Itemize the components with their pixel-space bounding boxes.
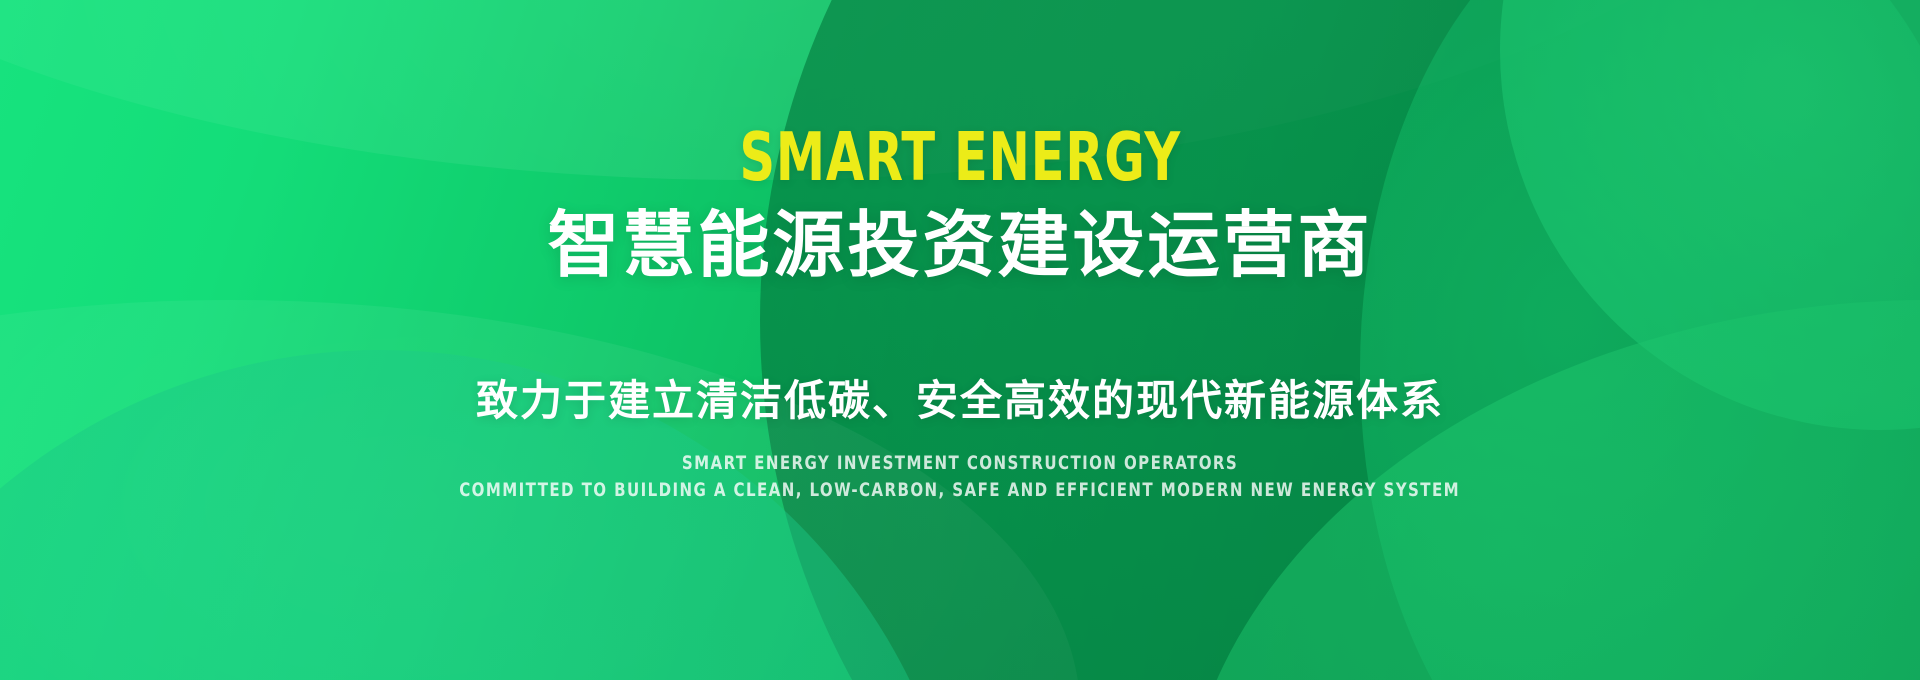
banner-tagline-english-line-2: COMMITTED TO BUILDING A CLEAN, LOW-CARBO… [460,477,1461,505]
banner-tagline-english-line-1: SMART ENERGY INVESTMENT CONSTRUCTION OPE… [682,450,1238,478]
hero-banner: SMART ENERGY 智慧能源投资建设运营商 致力于建立清洁低碳、安全高效的… [0,0,1920,680]
banner-subheadline-chinese: 致力于建立清洁低碳、安全高效的现代新能源体系 [476,378,1444,424]
banner-headline-chinese: 智慧能源投资建设运营商 [547,207,1372,283]
banner-eyebrow-english: SMART ENERGY [739,124,1181,191]
banner-content: SMART ENERGY 智慧能源投资建设运营商 致力于建立清洁低碳、安全高效的… [0,0,1920,680]
